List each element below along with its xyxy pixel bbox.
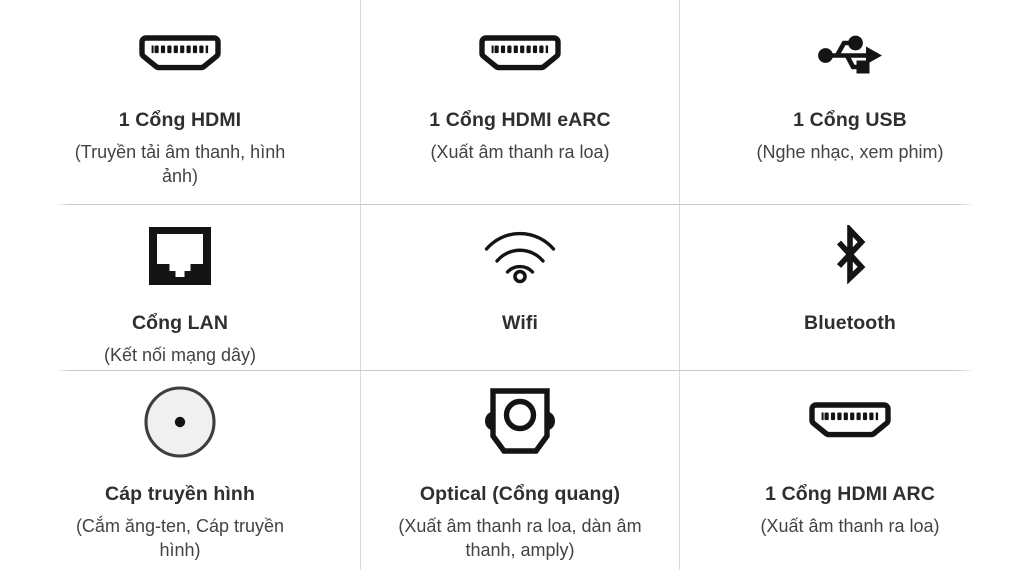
port-cell-hdmi-arc: 1 Cổng HDMI ARC (Xuất âm thanh ra loa) [680,371,1020,570]
hdmi-port-icon [14,29,346,81]
port-title: 1 Cổng HDMI eARC [429,108,610,132]
port-subtitle: (Xuất âm thanh ra loa) [760,515,939,539]
port-subtitle: (Truyền tải âm thanh, hình ảnh) [55,141,305,189]
port-subtitle: (Xuất âm thanh ra loa, dàn âm thanh, amp… [395,515,645,563]
lan-rj45-port-icon [14,226,346,286]
port-title: Wifi [502,311,538,335]
port-cell-coaxial: Cáp truyền hình (Cắm ăng-ten, Cáp truyền… [0,371,360,570]
port-cell-hdmi-earc: 1 Cổng HDMI eARC (Xuất âm thanh ra loa) [361,0,679,204]
port-subtitle: (Nghe nhạc, xem phim) [756,141,943,165]
port-title: Cổng LAN [132,311,228,335]
port-cell-hdmi: 1 Cổng HDMI (Truyền tải âm thanh, hình ả… [0,0,360,204]
coaxial-cable-icon [14,385,346,459]
port-subtitle: (Cắm ăng-ten, Cáp truyền hình) [55,515,305,563]
port-cell-optical: Optical (Cổng quang) (Xuất âm thanh ra l… [361,371,679,570]
port-title: Cáp truyền hình [105,482,255,506]
port-cell-usb: 1 Cổng USB (Nghe nhạc, xem phim) [680,0,1020,204]
port-cell-bluetooth: Bluetooth [680,205,1020,370]
port-cell-wifi: Wifi [361,205,679,370]
wifi-icon [375,226,665,286]
port-title: 1 Cổng HDMI ARC [765,482,935,506]
port-title: 1 Cổng USB [793,108,907,132]
port-title: Bluetooth [804,311,896,335]
hdmi-arc-port-icon [694,385,1006,459]
port-title: Optical (Cổng quang) [420,482,620,506]
connectivity-port-grid: 1 Cổng HDMI (Truyền tải âm thanh, hình ả… [0,0,1020,570]
port-subtitle: (Xuất âm thanh ra loa) [430,141,609,165]
bluetooth-icon [694,226,1006,286]
port-title: 1 Cổng HDMI [119,108,241,132]
hdmi-earc-port-icon [375,29,665,81]
port-subtitle: (Kết nối mạng dây) [104,344,256,368]
optical-toslink-port-icon [375,385,665,459]
port-cell-lan: Cổng LAN (Kết nối mạng dây) [0,205,360,370]
usb-port-icon [694,29,1006,81]
